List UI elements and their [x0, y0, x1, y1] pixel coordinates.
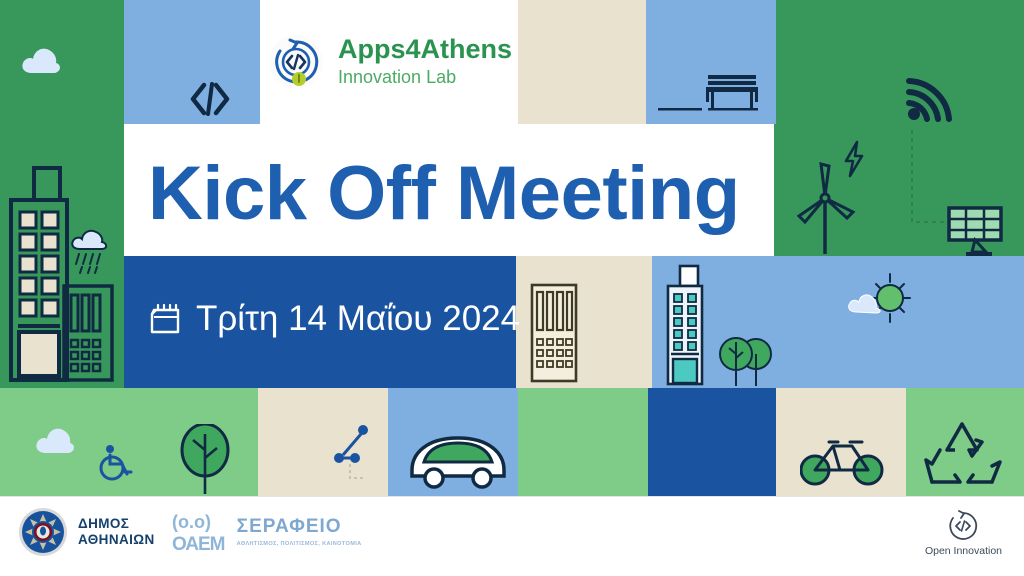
tree-icon	[176, 424, 234, 496]
code-refresh-icon	[946, 509, 980, 543]
code-brackets-icon	[190, 82, 230, 116]
brand-logo-lockup: Apps4Athens Innovation Lab	[268, 34, 512, 90]
mosaic-tile	[518, 388, 648, 496]
code-refresh-icon	[268, 34, 324, 90]
brand-title: Apps4Athens	[338, 35, 512, 63]
park-bench-icon	[650, 70, 766, 122]
office-building-icon	[530, 283, 578, 383]
tree-icon	[718, 332, 774, 388]
serafeio-logo: ΣΕΡΑΦΕΙΟ ΑΘΛΗΤΙΣΜΟΣ, ΠΟΛΙΤΙΣΜΟΣ, ΚΑΙΝΟΤΟ…	[237, 517, 362, 547]
event-date: Τρίτη 14 Μαΐου 2024	[148, 296, 520, 342]
sun-cloud-icon	[846, 272, 916, 328]
daem-logo-icon: (o.o) ΟΑΕΜ	[171, 509, 225, 555]
event-date-text: Τρίτη 14 Μαΐου 2024	[196, 299, 520, 339]
scooter-icon	[330, 422, 378, 482]
athens-city-crest-icon	[18, 507, 68, 557]
calendar-icon	[148, 302, 182, 336]
accessibility-icon	[98, 444, 134, 482]
cloud-icon	[20, 44, 62, 74]
serafeio-tagline: ΑΘΛΗΤΙΣΜΟΣ, ΠΟΛΙΤΙΣΜΟΣ, ΚΑΙΝΟΤΟΜΙΑ	[237, 541, 362, 547]
mosaic-tile	[518, 0, 646, 124]
recycle-icon	[920, 420, 1004, 490]
svg-text:(o.o): (o.o)	[172, 512, 211, 532]
municipality-line-1: ΔΗΜΟΣ	[78, 516, 155, 532]
brand-subtitle: Innovation Lab	[338, 66, 512, 89]
bicycle-icon	[800, 432, 884, 490]
small-building-icon	[62, 284, 114, 382]
mosaic-tile	[648, 388, 776, 496]
wifi-icon	[906, 78, 954, 122]
municipality-name: ΔΗΜΟΣ ΑΘΗΝΑΙΩΝ	[78, 516, 155, 548]
footer-bar: ΔΗΜΟΣ ΑΘΗΝΑΙΩΝ (o.o) ΟΑΕΜ ΣΕΡΑΦΕΙΟ ΑΘΛΗΤ…	[0, 496, 1024, 576]
lightning-bolt-icon	[842, 140, 866, 178]
poster-root: Kick Off Meeting Τρίτη 14 Μαΐου 2024 A	[0, 0, 1024, 576]
municipality-line-2: ΑΘΗΝΑΙΩΝ	[78, 532, 155, 548]
apartment-building-icon	[662, 264, 710, 386]
open-innovation-logo: Open Innovation	[925, 509, 1002, 557]
electric-car-icon	[406, 428, 510, 490]
page-title: Kick Off Meeting	[148, 148, 768, 240]
rain-cloud-icon	[68, 228, 112, 276]
mosaic-tile	[776, 0, 896, 124]
open-innovation-label: Open Innovation	[925, 545, 1002, 557]
solar-panel-icon	[946, 206, 1008, 258]
footer-partner-logos: ΔΗΜΟΣ ΑΘΗΝΑΙΩΝ (o.o) ΟΑΕΜ ΣΕΡΑΦΕΙΟ ΑΘΛΗΤ…	[18, 507, 362, 557]
cloud-icon	[34, 424, 76, 454]
svg-text:ΟΑΕΜ: ΟΑΕΜ	[172, 534, 225, 555]
serafeio-name: ΣΕΡΑΦΕΙΟ	[237, 517, 362, 538]
mosaic-tile	[0, 0, 124, 124]
